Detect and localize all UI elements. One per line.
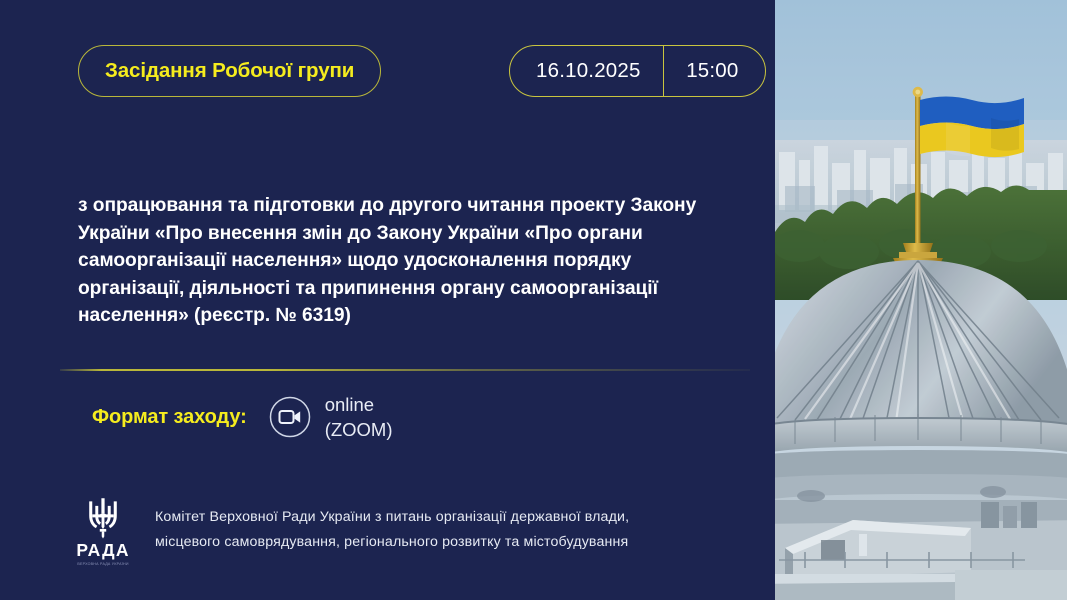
content-panel: Засідання Робочої групи 16.10.2025 15:00… (0, 0, 775, 600)
parliament-dome-photo (775, 0, 1067, 600)
committee-name: Комітет Верховної Ради України з питань … (155, 494, 629, 555)
committee-name-line1: Комітет Верховної Ради України з питань … (155, 509, 629, 525)
event-title-text: Засідання Робочої групи (105, 59, 354, 83)
committee-name-line2: місцевого самоврядування, регіонального … (155, 534, 628, 550)
rada-subtitle: ВЕРХОВНА РАДА УКРАЇНИ (77, 562, 128, 567)
format-label: Формат заходу: (92, 406, 247, 429)
section-divider (60, 369, 750, 371)
event-description: з опрацювання та підготовки до другого ч… (78, 192, 718, 330)
video-camera-icon (269, 396, 311, 438)
format-value: online (ZOOM) (325, 392, 393, 442)
datetime-badge: 16.10.2025 15:00 (509, 45, 766, 97)
footer: РАДА ВЕРХОВНА РАДА УКРАЇНИ Комітет Верхо… (72, 494, 629, 567)
event-title-badge: Засідання Робочої групи (78, 45, 381, 97)
poster-announcement: Засідання Робочої групи 16.10.2025 15:00… (0, 0, 1067, 600)
format-value-line2: (ZOOM) (325, 419, 393, 440)
rada-wordmark: РАДА (76, 542, 129, 560)
event-date: 16.10.2025 (510, 46, 663, 96)
header-row: Засідання Робочої групи 16.10.2025 15:00 (78, 45, 738, 100)
format-value-line1: online (325, 394, 374, 415)
ukraine-trident-icon (85, 496, 121, 539)
rada-logo: РАДА ВЕРХОВНА РАДА УКРАЇНИ (72, 494, 134, 567)
format-row: Формат заходу: online (ZOOM) (92, 392, 393, 442)
event-time: 15:00 (664, 46, 764, 96)
